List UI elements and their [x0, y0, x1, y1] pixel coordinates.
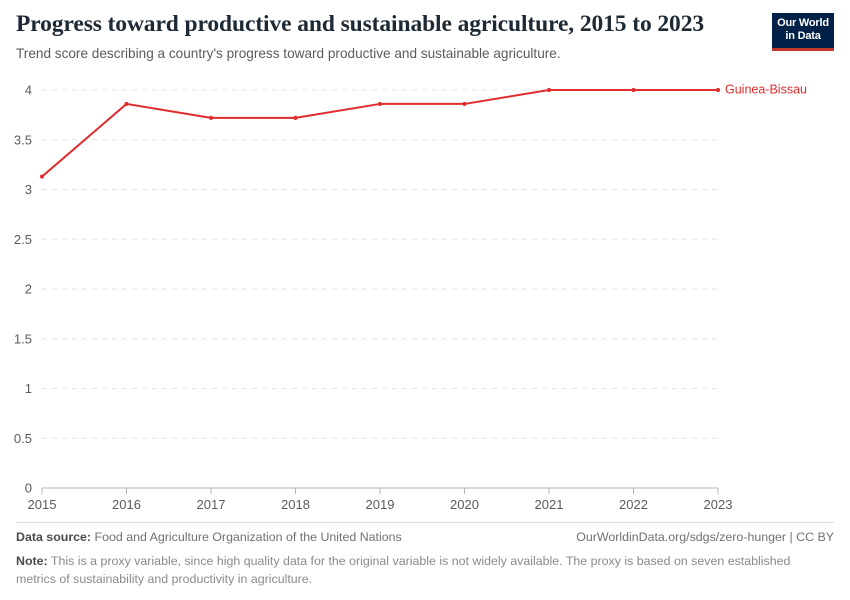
data-point[interactable] [40, 174, 44, 178]
data-source-text: Food and Agriculture Organization of the… [95, 530, 402, 544]
x-axis-tick-label: 2016 [112, 497, 141, 512]
logo-accent-bar [772, 48, 834, 51]
y-axis-tick-label: 3.5 [14, 132, 32, 147]
data-point[interactable] [716, 88, 720, 92]
data-point[interactable] [462, 102, 466, 106]
logo-line-2: in Data [772, 30, 834, 43]
x-axis-tick-label: 2015 [28, 497, 57, 512]
line-chart-svg[interactable]: 00.511.522.533.5420152016201720182019202… [0, 72, 850, 512]
x-axis-tick-label: 2017 [197, 497, 226, 512]
y-axis-tick-label: 4 [25, 83, 32, 98]
chart-plot-area[interactable]: 00.511.522.533.5420152016201720182019202… [0, 72, 850, 512]
data-point[interactable] [547, 88, 551, 92]
data-point[interactable] [209, 116, 213, 120]
x-axis-tick-label: 2020 [450, 497, 479, 512]
footer-divider [16, 522, 834, 523]
y-axis-tick-label: 2 [25, 282, 32, 297]
y-axis-tick-label: 1 [25, 381, 32, 396]
y-axis-tick-label: 1.5 [14, 331, 32, 346]
y-axis-tick-label: 2.5 [14, 232, 32, 247]
chart-header: Progress toward productive and sustainab… [16, 10, 756, 63]
y-axis-tick-label: 0 [25, 481, 32, 496]
data-source: Data source: Food and Agriculture Organi… [16, 530, 402, 544]
note-text: This is a proxy variable, since high qua… [16, 554, 790, 586]
chart-note: Note: This is a proxy variable, since hi… [16, 553, 816, 588]
x-axis-tick-label: 2023 [704, 497, 733, 512]
note-label: Note: [16, 554, 48, 568]
owid-url-license[interactable]: OurWorldinData.org/sdgs/zero-hunger | CC… [576, 530, 834, 544]
footer-source-row: Data source: Food and Agriculture Organi… [16, 530, 834, 546]
data-point[interactable] [293, 116, 297, 120]
data-point[interactable] [378, 102, 382, 106]
x-axis-tick-label: 2021 [535, 497, 564, 512]
data-point[interactable] [631, 88, 635, 92]
y-axis-tick-label: 3 [25, 182, 32, 197]
chart-subtitle: Trend score describing a country's progr… [16, 45, 756, 63]
data-point[interactable] [124, 102, 128, 106]
y-axis-tick-label: 0.5 [14, 431, 32, 446]
page-title: Progress toward productive and sustainab… [16, 10, 756, 38]
logo-line-1: Our World [772, 17, 834, 30]
chart-page: Progress toward productive and sustainab… [0, 0, 850, 600]
series-label[interactable]: Guinea-Bissau [725, 82, 807, 96]
x-axis-tick-label: 2018 [281, 497, 310, 512]
chart-footer: Data source: Food and Agriculture Organi… [16, 522, 834, 588]
our-world-in-data-logo[interactable]: Our World in Data [772, 13, 834, 51]
x-axis-tick-label: 2019 [366, 497, 395, 512]
data-source-label: Data source: [16, 530, 91, 544]
x-axis-tick-label: 2022 [619, 497, 648, 512]
